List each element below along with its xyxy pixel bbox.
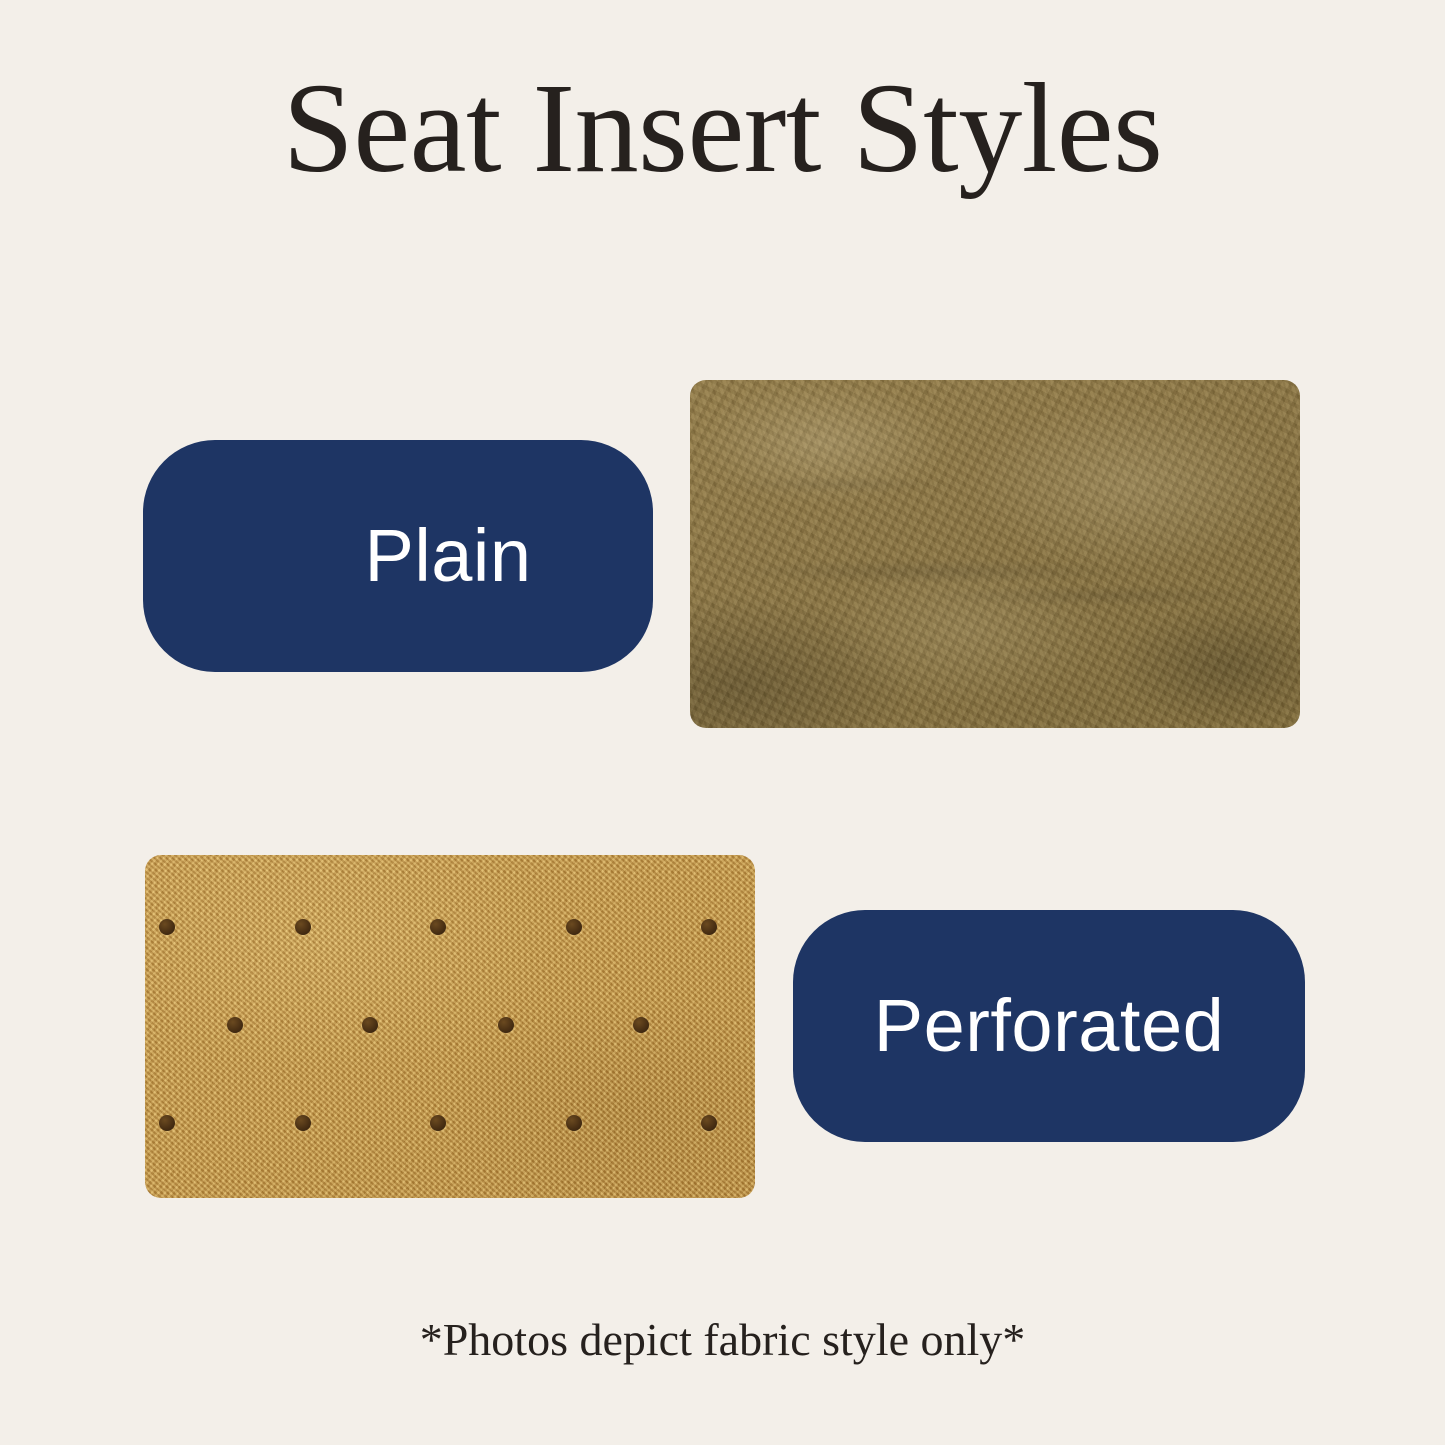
perforation-hole [362,1017,378,1033]
perforated-leather-swatch [145,855,755,1198]
perforation-hole [295,1115,311,1131]
perforation-hole [159,919,175,935]
perforation-hole [566,1115,582,1131]
perforation-hole [498,1017,514,1033]
style-row-perforated: Perforated [0,840,1445,1200]
perforation-hole [701,1115,717,1131]
style-row-plain: Plain [0,370,1445,730]
perforation-hole-grid [145,855,755,1198]
perforation-hole [430,919,446,935]
style-label-perforated[interactable]: Perforated [793,910,1305,1142]
perforation-hole [430,1115,446,1131]
style-label-plain[interactable]: Plain [143,440,653,672]
perforation-hole [159,1115,175,1131]
perforation-hole [295,919,311,935]
page-title: Seat Insert Styles [0,62,1445,194]
perforation-hole [701,919,717,935]
footer-disclaimer: *Photos depict fabric style only* [0,1312,1445,1368]
perforation-hole [227,1017,243,1033]
style-label-plain-text: Plain [364,516,531,596]
style-label-perforated-text: Perforated [874,986,1225,1066]
perforation-hole [633,1017,649,1033]
infographic-canvas: Seat Insert Styles Plain Perforated *Pho… [0,0,1445,1445]
plain-leather-swatch [690,380,1300,728]
perforation-hole [566,919,582,935]
